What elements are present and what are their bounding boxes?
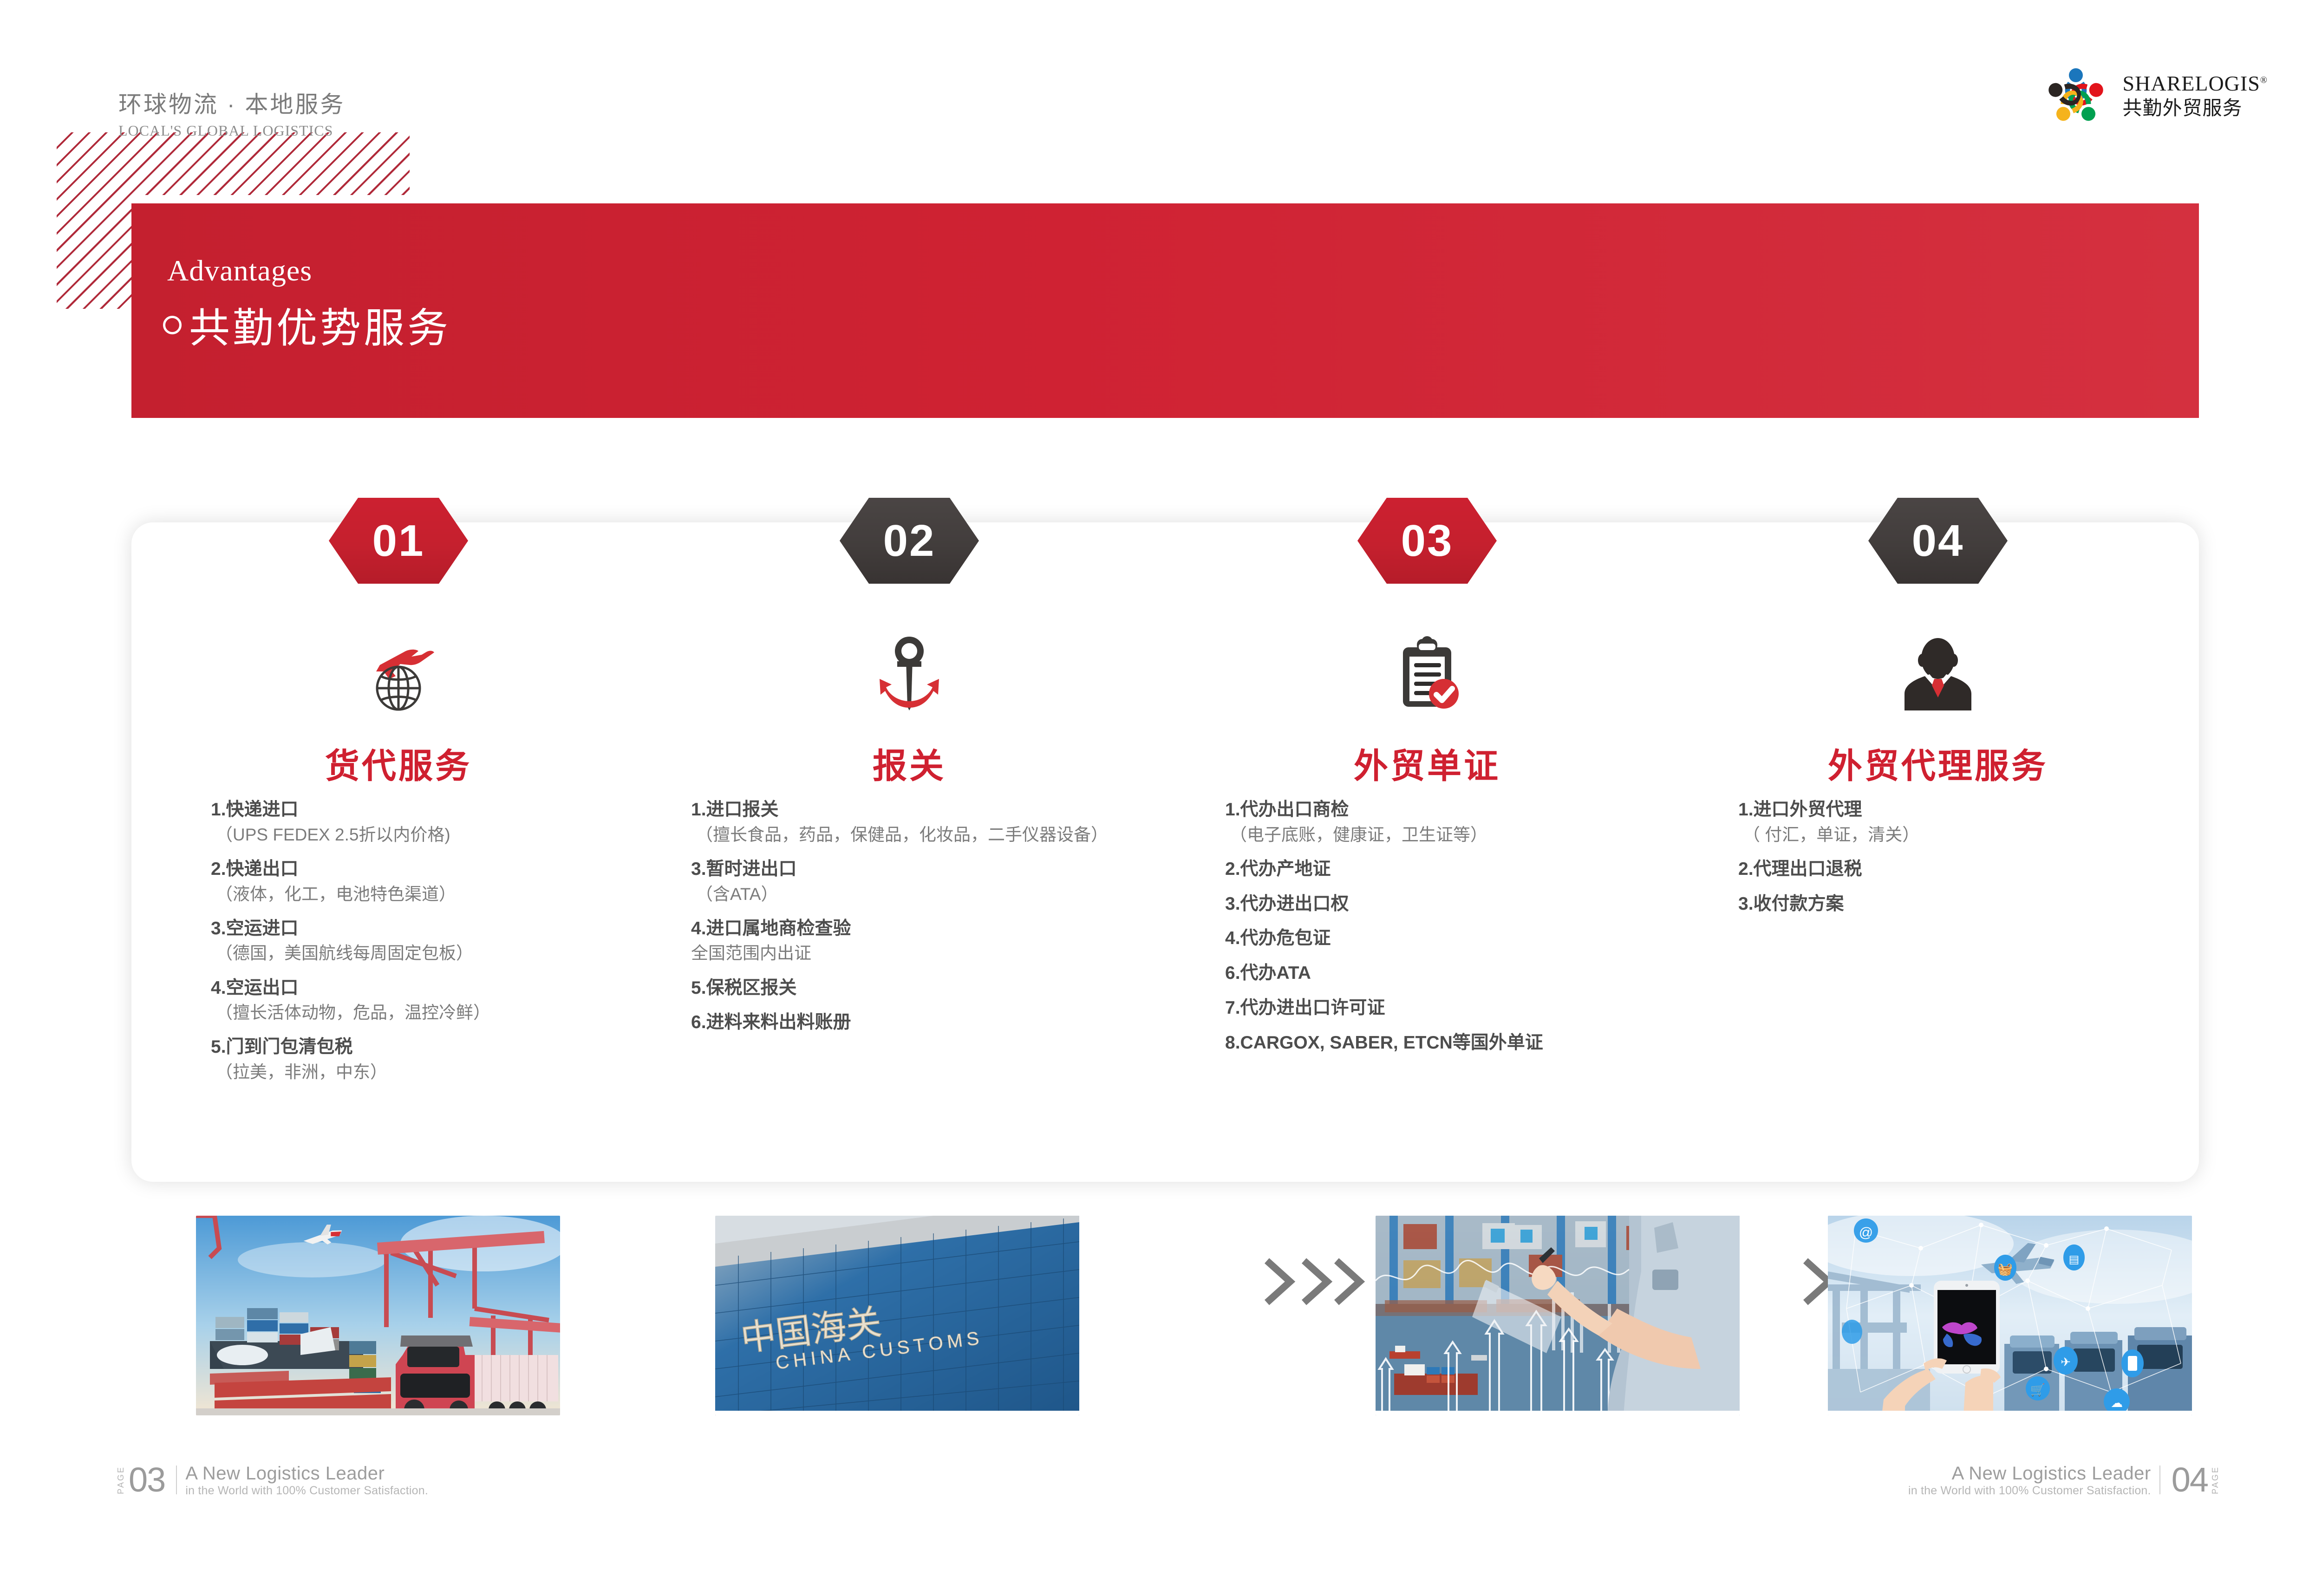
mobile-phone-icon	[2128, 1356, 2137, 1371]
section-banner: Advantages 共勤优势服务	[131, 203, 2199, 418]
step-badge-03: 03	[1357, 498, 1497, 584]
list-item-main: 5.门到门包清包税	[211, 1036, 582, 1059]
inspector-clipboard-port-photo	[1376, 1216, 1740, 1415]
list-item: 3.暂时进出口 （含ATA）	[691, 858, 1137, 905]
list-item: 8.CARGOX, SABER, ETCN等国外单证	[1225, 1032, 1643, 1055]
page-number-right: 04	[2172, 1463, 2208, 1497]
footer-tagline-right: A New Logistics Leader in the World with…	[1908, 1463, 2151, 1498]
footer-tagline-left: A New Logistics Leader in the World with…	[185, 1463, 428, 1498]
list-item-sub: （擅长食品，药品，保健品，化妆品，二手仪器设备）	[696, 824, 1137, 846]
page-label-left: PAGE	[116, 1466, 126, 1494]
banner-title-cn-wrap: 共勤优势服务	[163, 295, 451, 354]
list-item: 1.进口报关 （擅长食品，药品，保健品，化妆品，二手仪器设备）	[691, 799, 1137, 846]
footer-tagline-line1: A New Logistics Leader	[185, 1463, 428, 1484]
list-item: 2.代理出口退税	[1738, 858, 2138, 881]
footer-tagline-line2: in the World with 100% Customer Satisfac…	[185, 1484, 428, 1498]
step-badge-02: 02	[840, 498, 979, 584]
list-item-main: 7.代办进出口许可证	[1225, 997, 1643, 1020]
china-customs-building-photo: 中国海关 CHINA CUSTOMS	[715, 1216, 1079, 1415]
list-item-sub: （拉美，非洲，中东）	[215, 1061, 582, 1083]
brand-block: 环球物流 · 本地服务 LOCAL'S GLOBAL LOGISTICS	[118, 86, 345, 139]
step-number-01: 01	[372, 515, 425, 567]
list-item-main: 2.快递出口	[211, 858, 582, 881]
registered-mark: ®	[2260, 75, 2268, 85]
list-item-main: 2.代理出口退税	[1738, 858, 2138, 881]
list-item: 4.进口属地商检查验 全国范围内出证	[691, 918, 1137, 965]
list-item-main: 6.进料来料出料账册	[691, 1011, 1137, 1034]
circle-bullet-icon	[163, 316, 182, 334]
logo-subtitle: 共勤外贸服务	[2123, 98, 2268, 118]
list-item: 4.代办危包证	[1225, 927, 1643, 950]
chevron-arrows-icon-2	[1260, 1254, 1367, 1309]
list-item-main: 5.保税区报关	[691, 977, 1137, 1000]
banner-title-en: Advantages	[167, 254, 312, 288]
list-item: 3.空运进口 （德国，美国航线每周固定包板）	[211, 918, 582, 965]
list-item: 4.空运出口 （擅长活体动物，危品，温控冷鲜）	[211, 977, 582, 1024]
list-item-main: 3.暂时进出口	[691, 858, 1137, 881]
airplane-icon: ✈	[2061, 1355, 2071, 1369]
list-item: 3.收付款方案	[1738, 893, 2138, 916]
footer-left: PAGE 03 A New Logistics Leader in the Wo…	[116, 1463, 428, 1498]
company-logo: SHARELOGIS® 共勤外贸服务	[2041, 60, 2268, 130]
list-item-sub: 全国范围内出证	[691, 942, 1137, 964]
list-item-main: 4.代办危包证	[1225, 927, 1643, 950]
list-item-sub: （德国，美国航线每周固定包板）	[215, 942, 582, 964]
list-item-sub: （液体，化工，电池特色渠道）	[215, 883, 582, 905]
list-item-main: 1.代办出口商检	[1225, 799, 1643, 821]
list-item-sub: （电子底账，健康证，卫生证等）	[1230, 824, 1643, 846]
list-item: 1.快递进口 （UPS FEDEX 2.5折以内价格)	[211, 799, 582, 846]
anchor-icon	[863, 636, 956, 717]
step-badge-04: 04	[1868, 498, 2008, 584]
basket-icon: 🧺	[1998, 1262, 2013, 1276]
list-item-main: 1.进口外贸代理	[1738, 799, 2138, 821]
column-list-1: 1.快递进口 （UPS FEDEX 2.5折以内价格) 2.快递出口 （液体，化…	[211, 799, 582, 1095]
list-item-main: 8.CARGOX, SABER, ETCN等国外单证	[1225, 1032, 1643, 1055]
column-title-1: 货代服务	[171, 738, 626, 788]
list-item: 5.门到门包清包税 （拉美，非洲，中东）	[211, 1036, 582, 1083]
list-item: 6.进料来料出料账册	[691, 1011, 1137, 1034]
page-number-left: 03	[129, 1463, 165, 1497]
column-list-2: 1.进口报关 （擅长食品，药品，保健品，化妆品，二手仪器设备） 3.暂时进出口 …	[691, 799, 1137, 1046]
list-item-main: 6.代办ATA	[1225, 962, 1643, 985]
list-item-main: 1.进口报关	[691, 799, 1137, 821]
list-item: 1.代办出口商检 （电子底账，健康证，卫生证等）	[1225, 799, 1643, 846]
list-item: 7.代办进出口许可证	[1225, 997, 1643, 1020]
sharelogis-mark-icon	[2041, 60, 2111, 130]
column-list-4: 1.进口外贸代理 （ 付汇，单证，清关） 2.代理出口退税 3.收付款方案	[1738, 799, 2138, 927]
page-header: 环球物流 · 本地服务 LOCAL'S GLOBAL LOGISTICS	[0, 0, 2322, 195]
step-number-04: 04	[1912, 515, 1964, 567]
step-number-02: 02	[883, 515, 936, 567]
list-item: 3.代办进出口权	[1225, 893, 1643, 916]
logo-name: SHARELOGIS®	[2123, 73, 2268, 94]
column-list-3: 1.代办出口商检 （电子底账，健康证，卫生证等） 2.代办产地证 3.代办进出口…	[1225, 799, 1643, 1066]
logo-name-text: SHARELOGIS	[2123, 72, 2260, 95]
shopping-cart-icon: 🛒	[2030, 1383, 2045, 1397]
smart-logistics-tablet-photo: @ 🧺 ▤ ✈ 🛒 ☁	[1828, 1216, 2192, 1415]
port-crane-truck-photo	[196, 1216, 560, 1415]
column-title-3: 外贸单证	[1200, 738, 1655, 788]
brand-title-cn: 环球物流 · 本地服务	[118, 86, 345, 119]
footer-divider-right	[2159, 1466, 2160, 1494]
list-item: 6.代办ATA	[1225, 962, 1643, 985]
footer-tagline-line1: A New Logistics Leader	[1952, 1463, 2151, 1484]
list-item-sub: （擅长活体动物，危品，温控冷鲜）	[215, 1002, 582, 1024]
logo-text: SHARELOGIS® 共勤外贸服务	[2123, 73, 2268, 118]
list-item-main: 1.快递进口	[211, 799, 582, 821]
column-title-4: 外贸代理服务	[1710, 738, 2165, 788]
list-item: 1.进口外贸代理 （ 付汇，单证，清关）	[1738, 799, 2138, 846]
list-item-main: 3.空运进口	[211, 918, 582, 940]
list-item-main: 2.代办产地证	[1225, 858, 1643, 881]
globe-airplane-icon	[352, 636, 445, 717]
list-item-sub: （含ATA）	[696, 883, 1137, 905]
footer-tagline-line2: in the World with 100% Customer Satisfac…	[1908, 1484, 2151, 1498]
list-item-main: 4.进口属地商检查验	[691, 918, 1137, 940]
list-item: 5.保税区报关	[691, 977, 1137, 1000]
banner-title-cn: 共勤优势服务	[189, 295, 451, 354]
footer-divider-left	[176, 1466, 177, 1494]
list-item-sub: （UPS FEDEX 2.5折以内价格)	[215, 824, 582, 846]
list-item-main: 3.代办进出口权	[1225, 893, 1643, 916]
list-item-sub: （ 付汇，单证，清关）	[1743, 824, 2138, 846]
footer-right: A New Logistics Leader in the World with…	[1908, 1463, 2220, 1498]
column-title-2: 报关	[682, 738, 1137, 788]
list-item: 2.快递出口 （液体，化工，电池特色渠道）	[211, 858, 582, 905]
cloud-upload-icon: ☁	[2111, 1396, 2123, 1410]
step-badge-01: 01	[329, 498, 468, 584]
clipboard-check-icon	[1381, 636, 1474, 717]
businessman-icon	[1892, 636, 1984, 717]
barrel-icon: ▤	[2069, 1253, 2080, 1266]
at-sign-icon: @	[1859, 1225, 1873, 1240]
list-item: 2.代办产地证	[1225, 858, 1643, 881]
brand-title-en: LOCAL'S GLOBAL LOGISTICS	[118, 122, 345, 139]
list-item-main: 4.空运出口	[211, 977, 582, 1000]
page-label-right: PAGE	[2211, 1466, 2220, 1494]
step-number-03: 03	[1401, 515, 1454, 567]
list-item-main: 3.收付款方案	[1738, 893, 2138, 916]
